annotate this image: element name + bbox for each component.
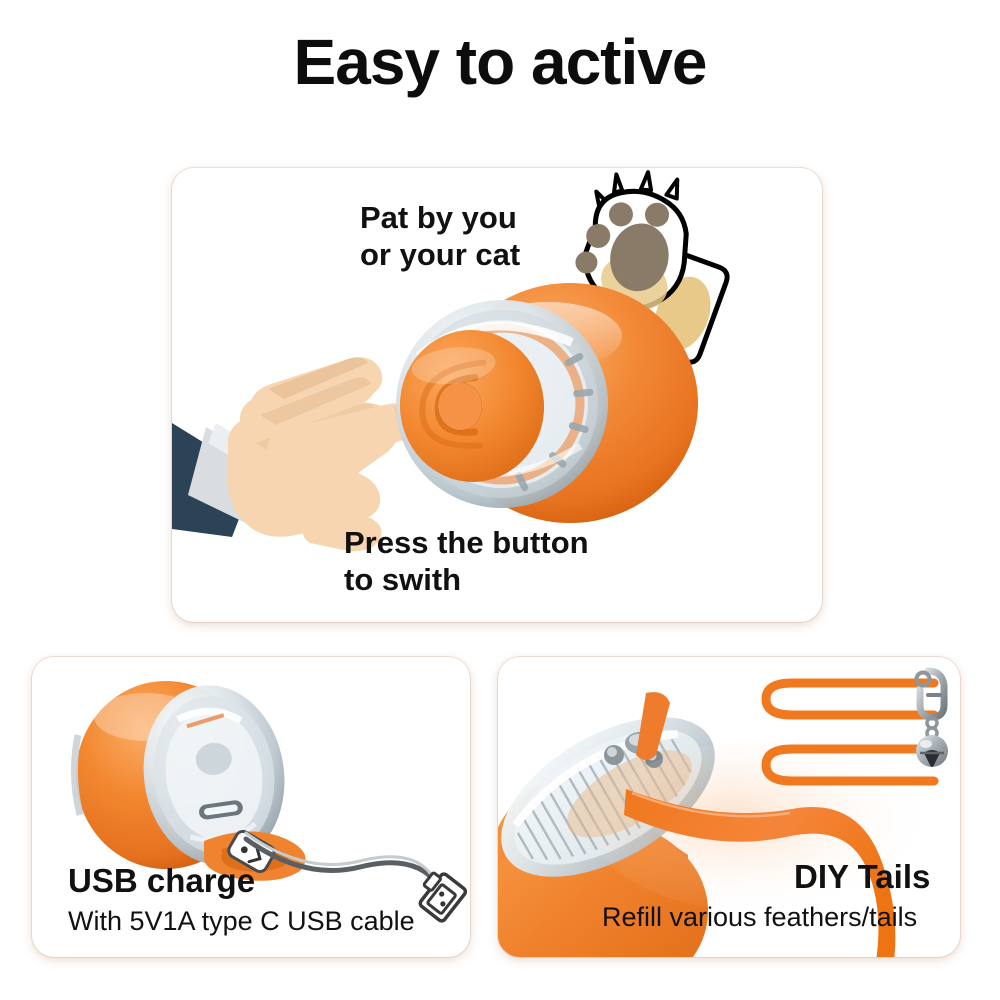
usb-title: USB charge	[68, 862, 255, 900]
diy-tails-card: DIY Tails Refill various feathers/tails	[498, 657, 960, 957]
caption-press: Press the button to swith	[344, 525, 589, 598]
infographic-root: Easy to active	[0, 0, 1000, 1000]
activation-card: Pat by you or your cat	[172, 168, 822, 622]
caption-pat: Pat by you or your cat	[360, 200, 520, 273]
diy-subtitle: Refill various feathers/tails	[602, 902, 917, 933]
usb-a-connector-icon	[412, 868, 467, 923]
usb-subtitle: With 5V1A type C USB cable	[68, 906, 415, 937]
diy-title: DIY Tails	[794, 858, 930, 896]
usb-charge-card: USB charge With 5V1A type C USB cable	[32, 657, 470, 957]
jingle-bell-clasp-icon	[898, 665, 960, 775]
orange-cat-ball-product	[352, 278, 752, 528]
page-title: Easy to active	[0, 30, 1000, 94]
